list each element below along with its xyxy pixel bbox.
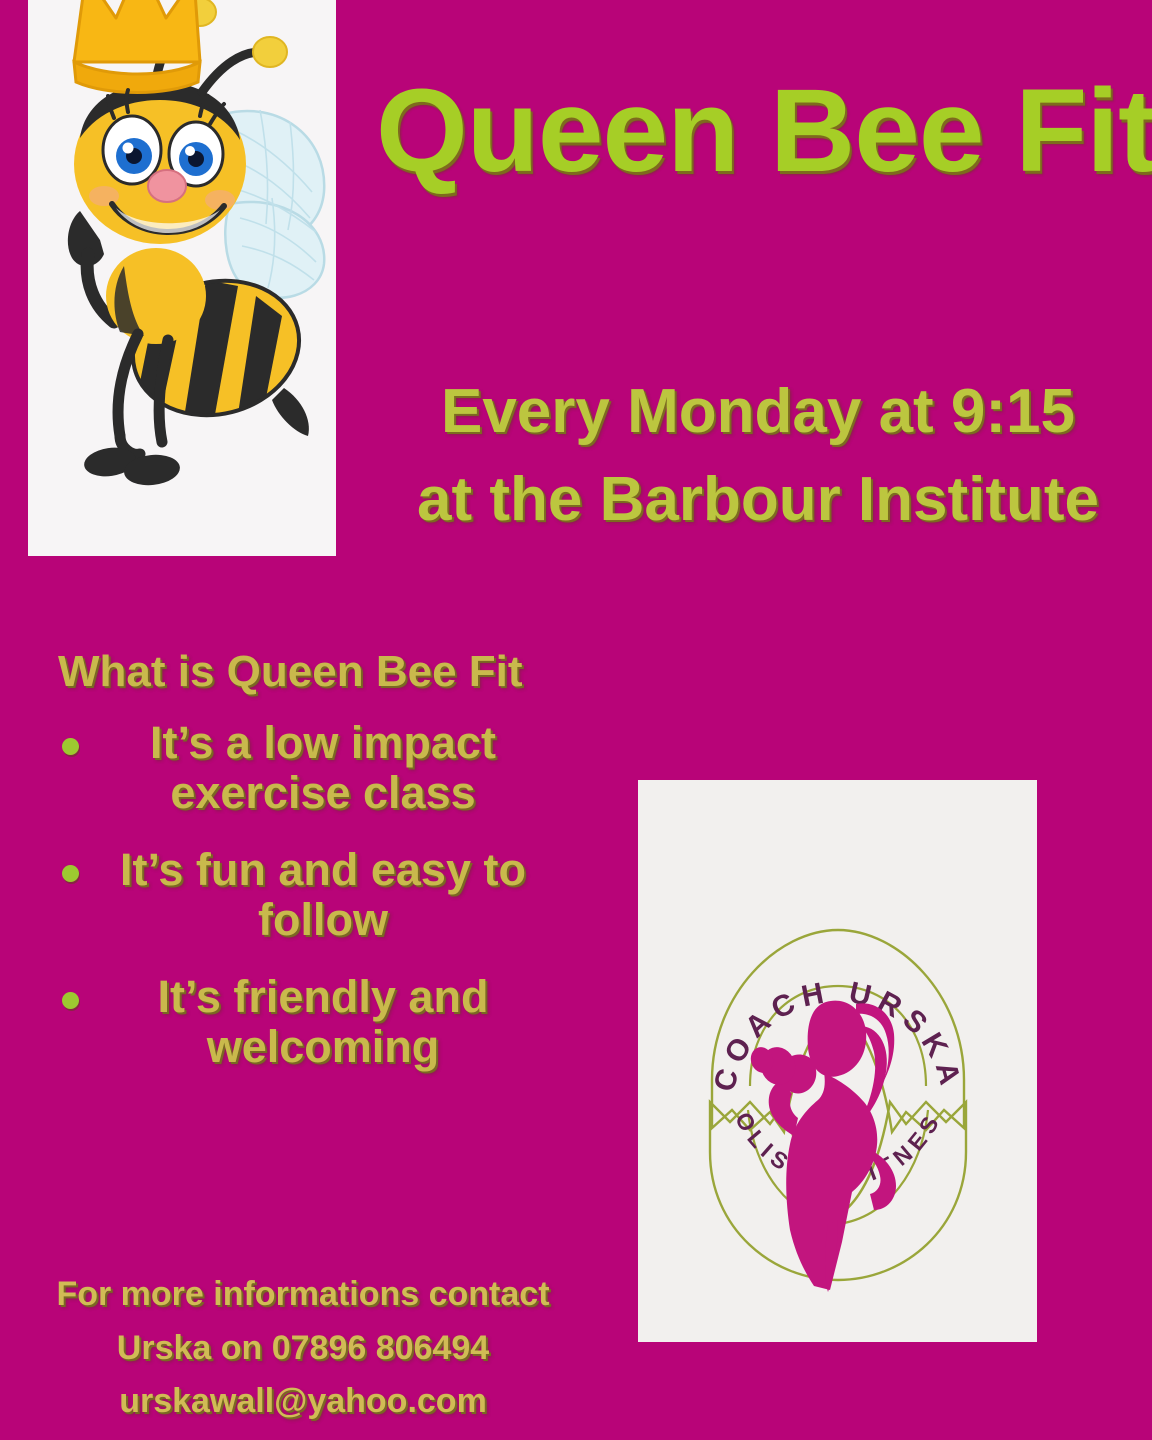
contact-email: urskawall@yahoo.com [48,1375,558,1429]
coach-urska-logo-card: COACH URSKA HOLISTIC FITNESS [638,780,1037,1342]
coach-urska-logo-icon: COACH URSKA HOLISTIC FITNESS [638,780,1037,1342]
queen-bee-image-card [28,0,336,556]
contact-line-1: For more informations contact [48,1268,558,1322]
bullet-dot-icon [62,865,79,882]
list-item: It’s friendly and welcoming [50,972,550,1073]
list-item-label: It’s a low impact exercise class [150,717,496,818]
list-item: It’s fun and easy to follow [50,845,550,946]
list-item: It’s a low impact exercise class [50,718,550,819]
page-title: Queen Bee Fit [376,72,1146,190]
bullet-dot-icon [62,738,79,755]
schedule-line-1: Every Monday at 9:15 [372,368,1144,456]
about-heading: What is Queen Bee Fit [58,648,523,696]
schedule-block: Every Monday at 9:15 at the Barbour Inst… [372,368,1144,544]
list-item-label: It’s friendly and welcoming [158,971,489,1072]
about-bullet-list: It’s a low impact exercise class It’s fu… [50,718,550,1098]
bullet-dot-icon [62,992,79,1009]
contact-phone: Urska on 07896 806494 [48,1322,558,1376]
contact-block: For more informations contact Urska on 0… [48,1268,558,1429]
poster-root: Queen Bee Fit Every Monday at 9:15 at th… [0,0,1152,1440]
schedule-line-2: at the Barbour Institute [372,456,1144,544]
queen-bee-icon [28,0,336,556]
list-item-label: It’s fun and easy to follow [120,844,526,945]
